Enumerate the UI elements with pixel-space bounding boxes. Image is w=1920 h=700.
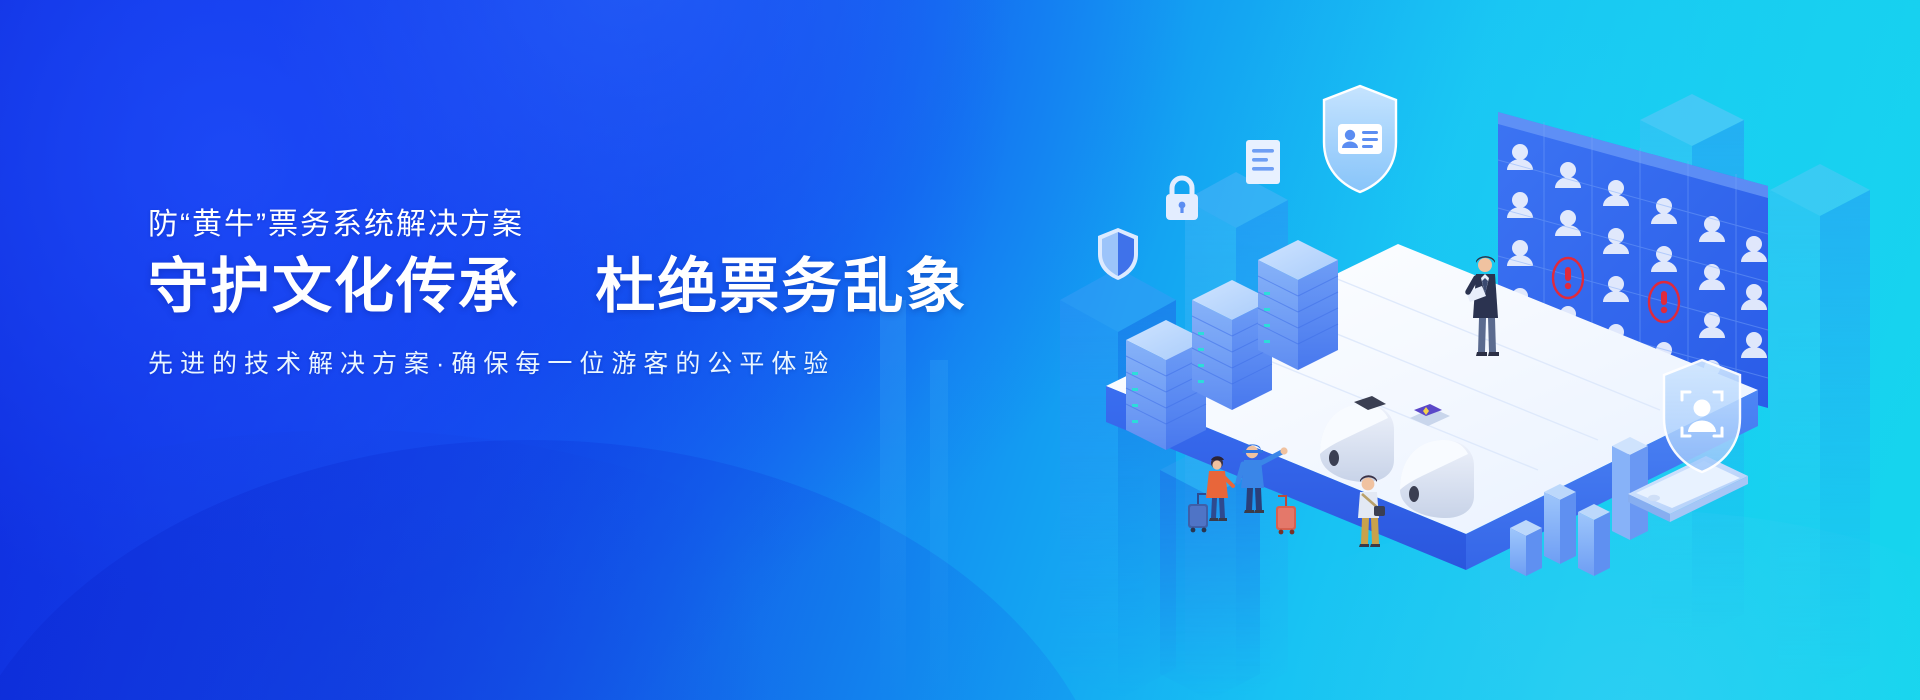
banner-subtitle: 先进的技术解决方案·确保每一位游客的公平体验 (148, 344, 1028, 380)
hero-banner: 防“黄牛”票务系统解决方案 守护文化传承 杜绝票务乱象 先进的技术解决方案·确保… (0, 0, 1920, 700)
isometric-illustration (1068, 78, 1808, 638)
headline-part-right: 杜绝票务乱象 (595, 253, 967, 320)
lock-icon (1166, 178, 1198, 220)
document-icon (1246, 140, 1280, 184)
shield-icon (1098, 228, 1138, 280)
banner-copy: 防“黄牛”票务系统解决方案 守护文化传承 杜绝票务乱象 先进的技术解决方案·确保… (148, 206, 1028, 380)
banner-eyebrow: 防“黄牛”票务系统解决方案 (148, 206, 1028, 244)
id-card-shield-icon (1324, 86, 1396, 192)
banner-headline: 守护文化传承 杜绝票务乱象 (148, 252, 1028, 323)
background-wave-left (0, 440, 1120, 700)
headline-part-left: 守护文化传承 (148, 253, 520, 320)
background-glow-bottom-left (0, 430, 900, 700)
